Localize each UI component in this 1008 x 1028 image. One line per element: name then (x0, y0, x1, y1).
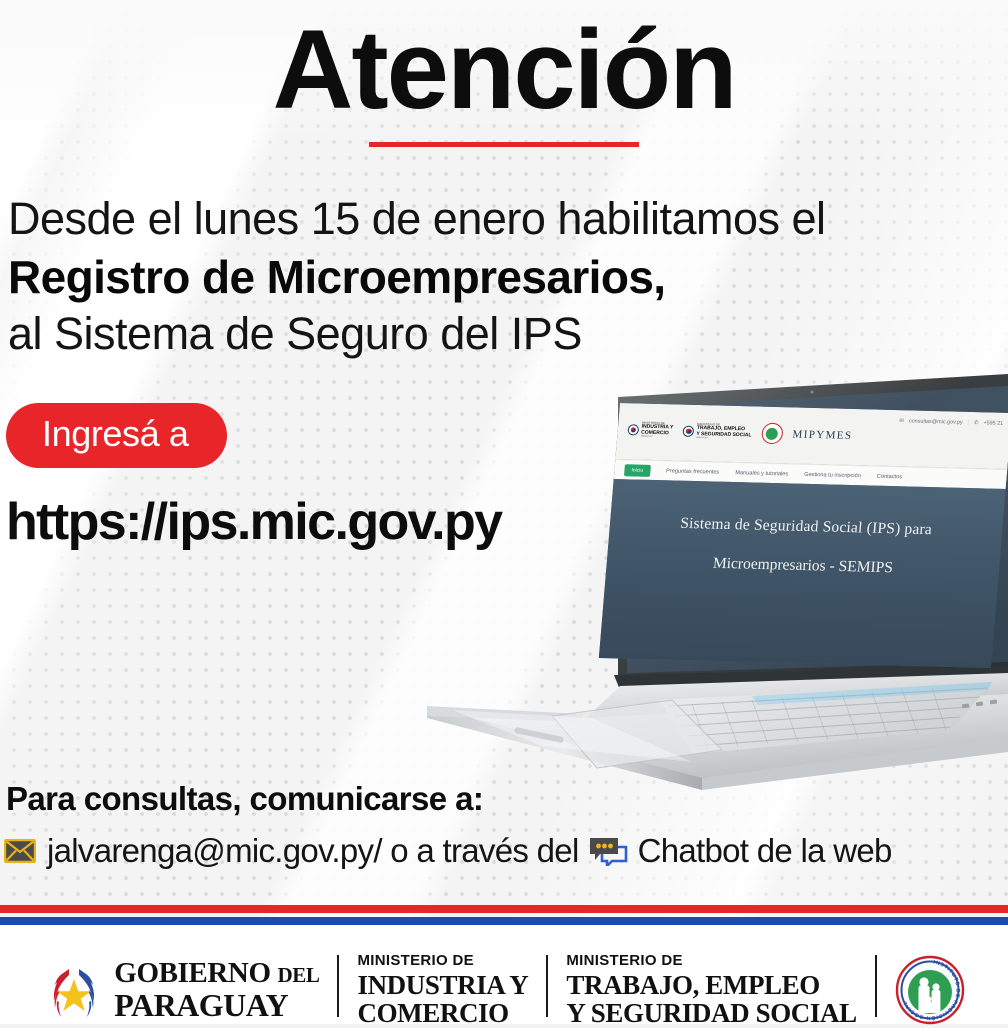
footer-logo-bar: GOBIERNO DEL PARAGUAY MINISTERIO DE INDU… (0, 925, 1008, 1024)
email-icon (4, 839, 36, 863)
footer-logo-trabajo: MINISTERIO DE TRABAJO, EMPLEO Y SEGURIDA… (566, 955, 856, 1025)
gobierno-text: GOBIERNO DEL PARAGUAY (114, 959, 319, 1021)
laptop-svg (392, 370, 1008, 790)
footer-divider (875, 955, 877, 1017)
chatbot-label: Chatbot de la web (638, 834, 892, 867)
footer-stripe-red (0, 905, 1008, 913)
contact-email[interactable]: jalvarenga@mic.gov.py (47, 834, 373, 867)
chatbot-icon (588, 836, 630, 866)
paraguay-wreath-svg (43, 959, 105, 1021)
gobierno-del: DEL (277, 963, 319, 987)
footer-logo-ips: INSTITUTO DE PREVISIÓN SOCIAL (895, 955, 965, 1025)
industria-name2: COMERCIO (357, 999, 528, 1027)
gobierno-word: GOBIERNO (114, 957, 270, 989)
trabajo-name2: Y SEGURIDAD SOCIAL (566, 999, 856, 1027)
footer-divider (546, 955, 548, 1017)
headline-underline (369, 142, 639, 147)
contact-heading: Para consultas, comunicarse a: (6, 780, 483, 818)
announcement-line-1: Desde el lunes 15 de enero habilitamos e… (8, 192, 998, 245)
footer-divider (337, 955, 339, 1017)
contact-details-row: jalvarenga@mic.gov.py / o a través del C… (4, 834, 892, 867)
footer-logo-industria: MINISTERIO DE INDUSTRIA Y COMERCIO (357, 955, 528, 1025)
footer-logo-gobierno: GOBIERNO DEL PARAGUAY (43, 955, 319, 1025)
announcement-line-2: Registro de Microempresarios, (8, 249, 998, 305)
footer-stripe-blue (0, 917, 1008, 925)
page-title: Atención (0, 14, 1008, 126)
trabajo-name: TRABAJO, EMPLEO (566, 971, 856, 999)
headline-block: Atención (0, 14, 1008, 147)
ips-emblem-icon: INSTITUTO DE PREVISIÓN SOCIAL (895, 955, 965, 1025)
gobierno-paraguay: PARAGUAY (114, 989, 319, 1021)
announcement-copy: Desde el lunes 15 de enero habilitamos e… (8, 192, 998, 360)
cta-pill-button[interactable]: Ingresá a (6, 403, 227, 468)
laptop-illustration: ✉ consultas@mic.gov.py | ✆ +595 21 MINIS… (392, 370, 1008, 790)
contact-separator: / o a través del (373, 834, 578, 867)
trabajo-kicker: MINISTERIO DE (566, 953, 856, 969)
industria-kicker: MINISTERIO DE (357, 953, 528, 969)
paraguay-wreath-icon (43, 959, 105, 1021)
industria-name: INDUSTRIA Y (357, 971, 528, 999)
announcement-line-3: al Sistema de Seguro del IPS (8, 307, 998, 360)
